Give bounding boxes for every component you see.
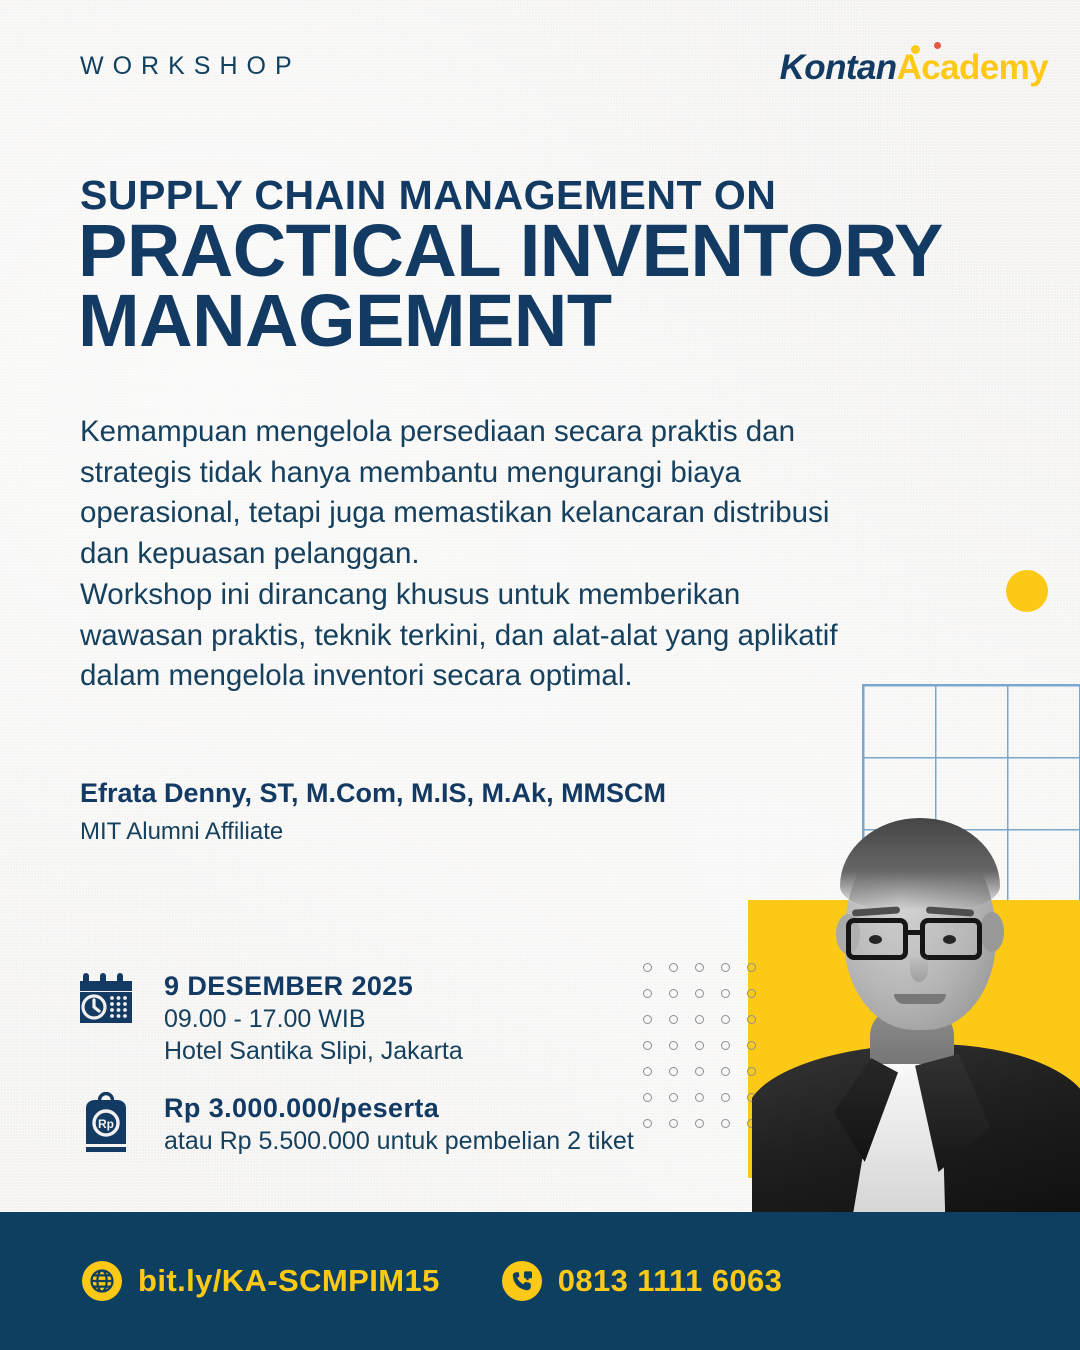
eyebrow-label: WORKSHOP: [80, 52, 301, 81]
event-date: 9 DESEMBER 2025: [164, 970, 463, 1003]
phone-icon: [502, 1261, 542, 1301]
globe-icon: [82, 1261, 122, 1301]
pricing-info: Rp Rp 3.000.000/peserta atau Rp 5.500.00…: [80, 1092, 634, 1159]
speaker-name: Efrata Denny, ST, M.Com, M.IS, M.Ak, MMS…: [80, 778, 666, 809]
logo-academy-text: Academy: [897, 48, 1048, 87]
event-venue: Hotel Santika Slipi, Jakarta: [164, 1035, 463, 1068]
price-note: atau Rp 5.500.000 untuk pembelian 2 tike…: [164, 1125, 634, 1158]
registration-link[interactable]: bit.ly/KA-SCMPIM15: [82, 1261, 440, 1301]
logo-kontan-text: Kontan: [780, 48, 897, 87]
price-tag-icon: Rp: [80, 1092, 142, 1159]
speaker-photo: [752, 796, 1080, 1212]
phone-contact[interactable]: 0813 1111 6063: [502, 1261, 783, 1301]
schedule-info: 9 DESEMBER 2025 09.00 - 17.00 WIB Hotel …: [80, 970, 463, 1068]
description-text: Kemampuan mengelola persediaan secara pr…: [80, 412, 840, 697]
footer-bar: bit.ly/KA-SCMPIM15 0813 1111 6063: [0, 1212, 1080, 1350]
phone-number-text: 0813 1111 6063: [558, 1263, 783, 1299]
event-time: 09.00 - 17.00 WIB: [164, 1003, 463, 1036]
svg-text:Rp: Rp: [98, 1117, 114, 1131]
yellow-dot-decoration: [1006, 570, 1048, 612]
registration-link-text: bit.ly/KA-SCMPIM15: [138, 1263, 440, 1299]
logo-spark-secondary-icon: [934, 42, 941, 49]
speaker-role: MIT Alumni Affiliate: [80, 818, 283, 846]
calendar-clock-icon: [80, 970, 142, 1068]
logo-spark-icon: [911, 45, 920, 54]
kontan-academy-logo: KontanAcademy: [780, 48, 1048, 88]
price-amount: Rp 3.000.000/peserta: [164, 1092, 634, 1125]
poster-canvas: WORKSHOP KontanAcademy SUPPLY CHAIN MANA…: [0, 0, 1080, 1350]
page-title: PRACTICAL INVENTORY MANAGEMENT: [78, 216, 998, 355]
